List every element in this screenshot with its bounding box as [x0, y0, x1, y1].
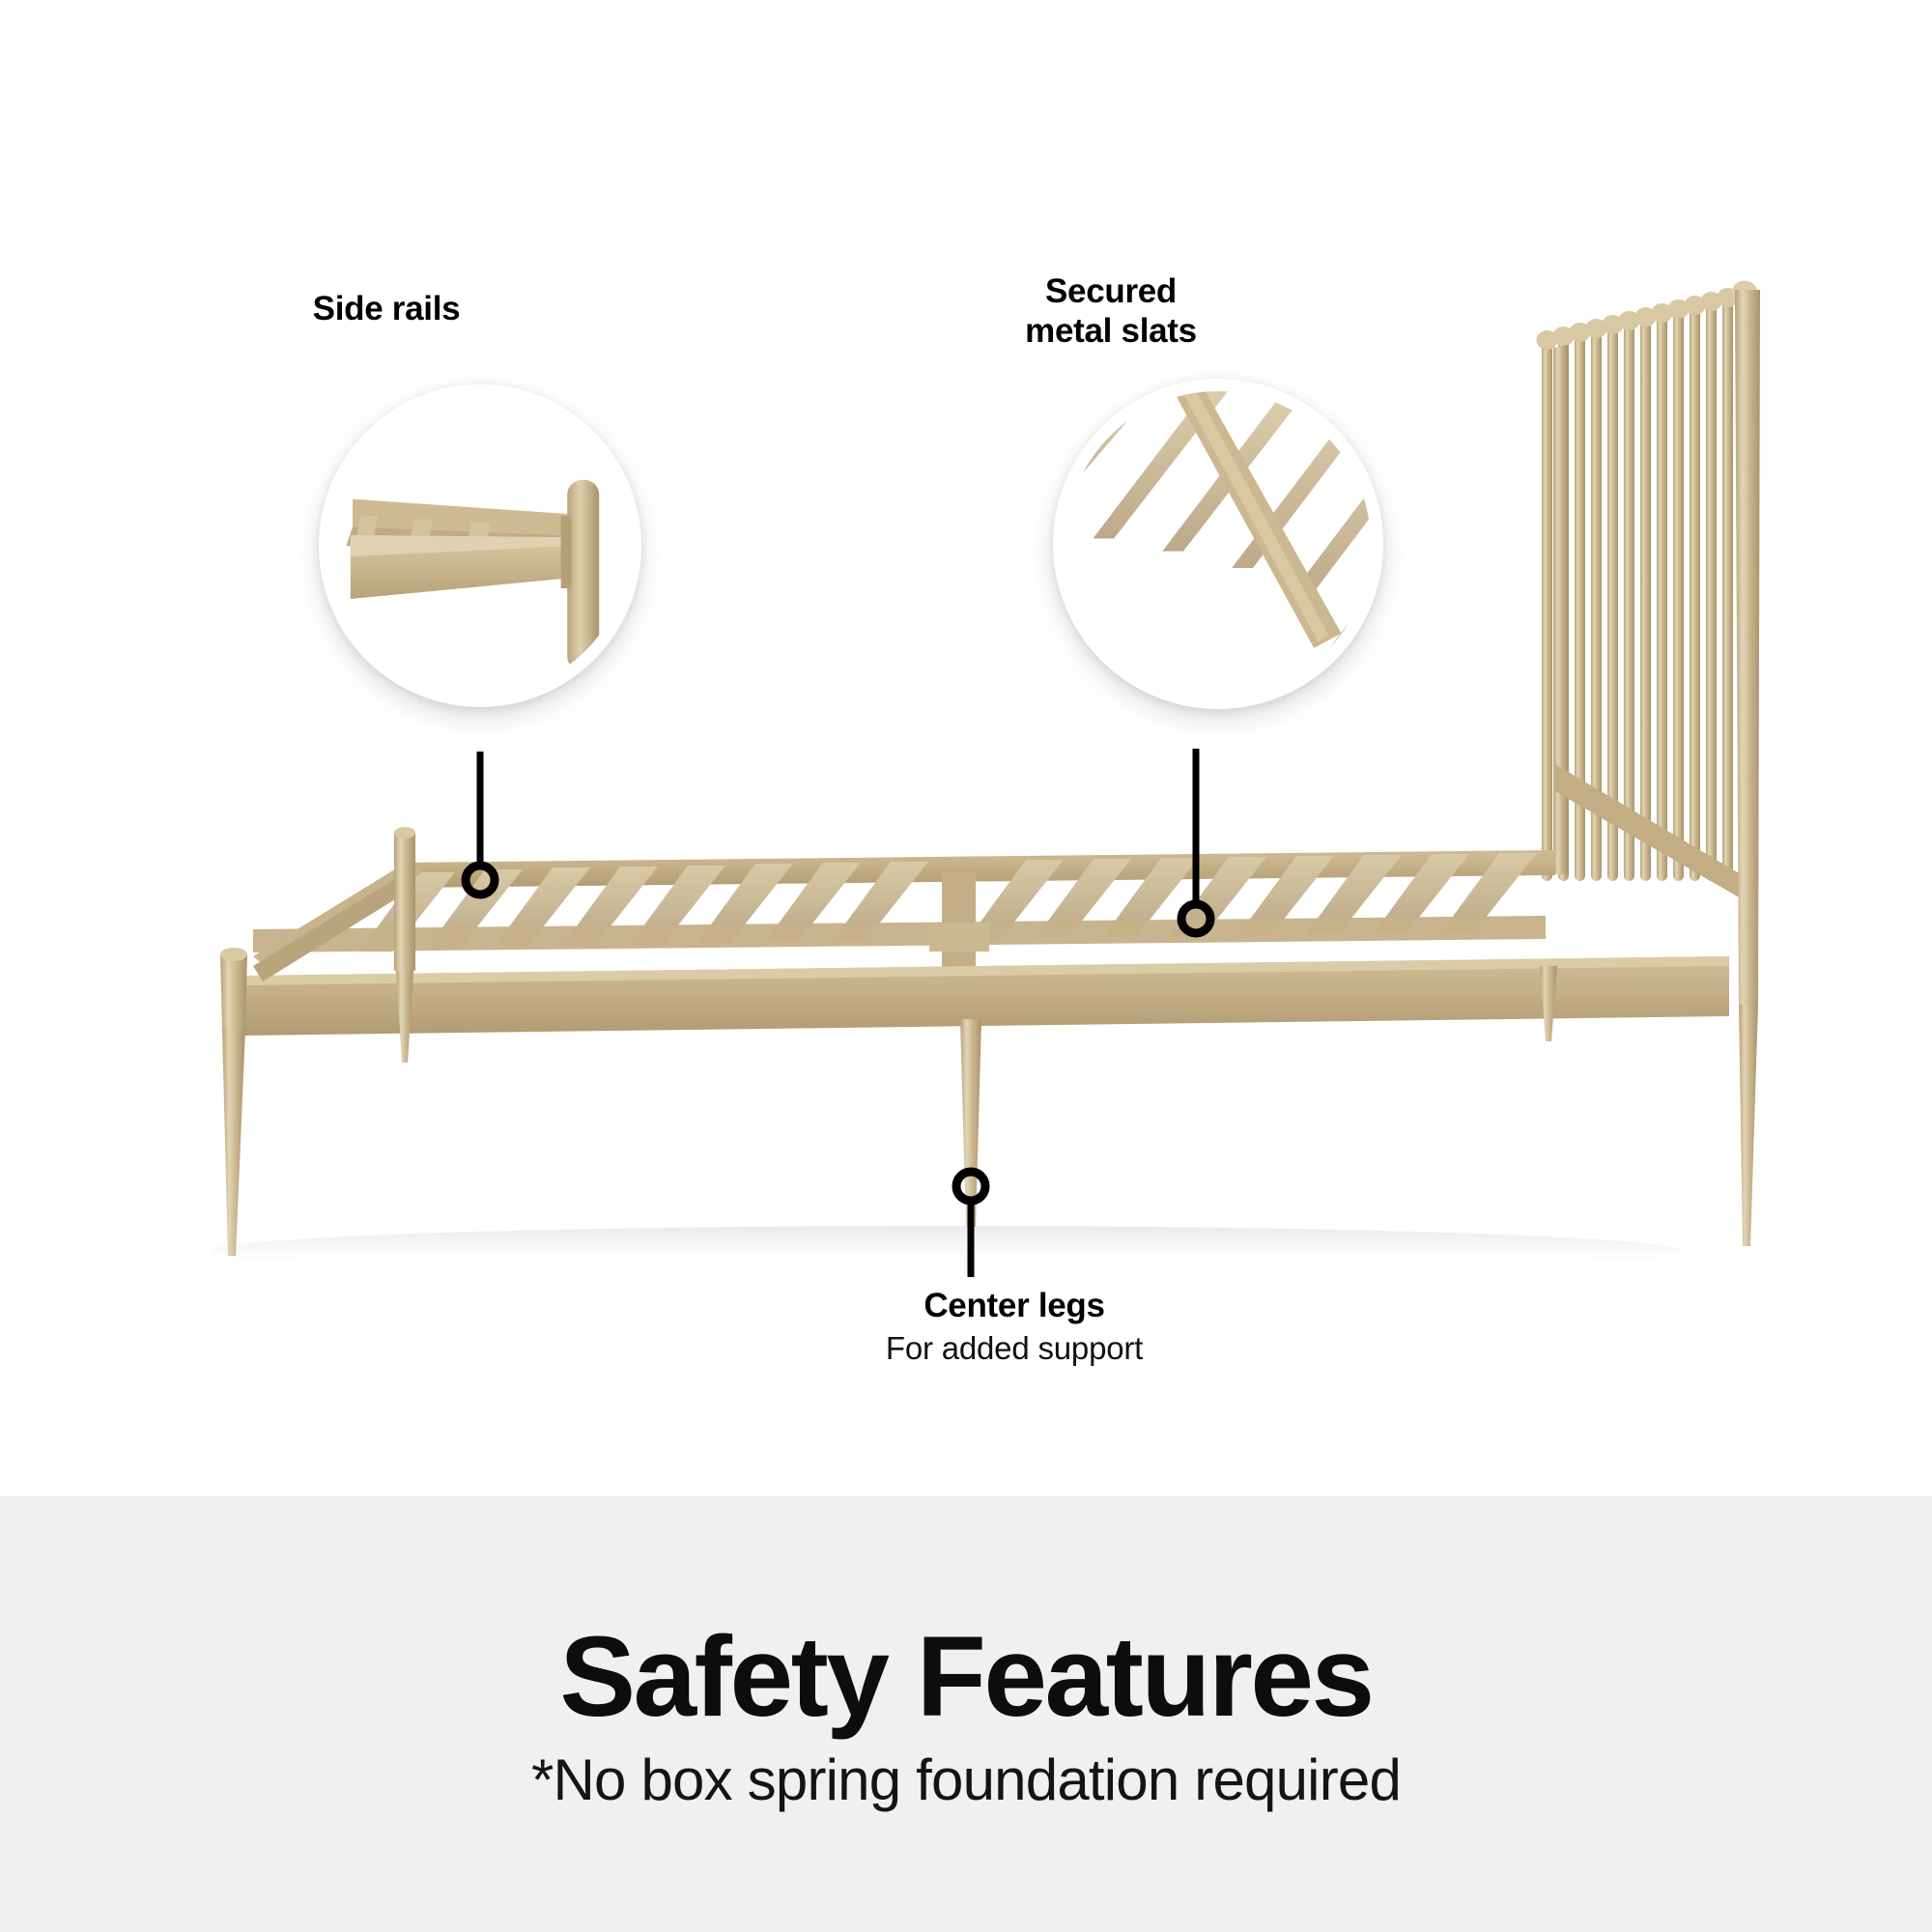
- callout-label-center-legs: Center legs For added support: [773, 1287, 1256, 1367]
- callout-title-metal-slats-line1: Secured: [918, 272, 1304, 312]
- headboard-right-leg: [1739, 1005, 1758, 1246]
- callout-subtitle-center-legs: For added support: [773, 1330, 1256, 1367]
- product-hero-image: Side rails Secured metal slats Center le…: [0, 0, 1932, 1496]
- callout-title-metal-slats-line2: metal slats: [918, 312, 1304, 352]
- bed-frame-illustration: [0, 0, 1932, 1496]
- footer-title: Safety Features: [559, 1620, 1372, 1734]
- headboard-right-post: [1735, 290, 1760, 1005]
- callout-title-side-rails: Side rails: [193, 290, 580, 329]
- magnifier-inset-metal-slats: [1053, 379, 1383, 709]
- floor-shadow: [213, 1226, 1681, 1276]
- footer-banner: Safety Features *No box spring foundatio…: [0, 1496, 1932, 1932]
- rear-foot-post: [394, 833, 415, 971]
- front-foot-leg: [222, 1029, 245, 1256]
- front-side-rail-assembly: [241, 956, 1729, 1036]
- center-support-rail: [253, 916, 1546, 952]
- callout-title-center-legs: Center legs: [773, 1287, 1256, 1326]
- screenshot-root: Side rails Secured metal slats Center le…: [0, 0, 1932, 1932]
- headboard: [1537, 281, 1761, 1247]
- front-foot-post: [220, 954, 247, 1029]
- metal-slats-detail-graphic: [1065, 391, 1371, 696]
- magnifier-inset-side-rails: [319, 384, 641, 707]
- footer-subtitle: *No box spring foundation required: [531, 1751, 1401, 1809]
- side-rail-detail-graphic: [331, 397, 629, 695]
- callout-label-side-rails: Side rails: [193, 290, 580, 329]
- callout-label-metal-slats: Secured metal slats: [918, 272, 1304, 351]
- callout-ring-markers: [466, 866, 1210, 1201]
